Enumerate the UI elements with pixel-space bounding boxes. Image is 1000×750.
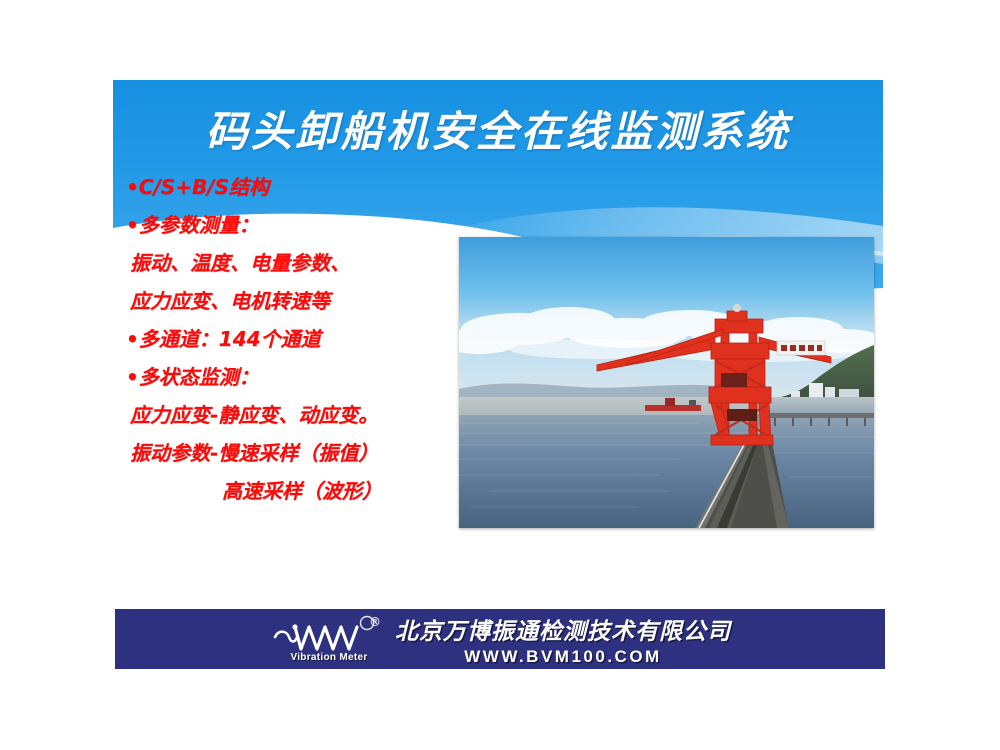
list-item: 振动、温度、电量参数、 [126, 244, 476, 282]
footer-bar: ® Vibration Meter 北京万博振通检测技术有限公司 WWW.BVM… [115, 609, 885, 669]
list-item: •多通道：144个通道 [126, 320, 476, 358]
registered-trademark-icon: ® [369, 615, 381, 629]
list-item-label: 振动参数-慢速采样（振值） [130, 441, 378, 465]
ship-unloader-photo [459, 237, 874, 528]
list-item: •多参数测量： [126, 206, 476, 244]
list-item: •多状态监测： [126, 358, 476, 396]
bullet-marker: • [126, 175, 139, 199]
photo-illustration [459, 237, 874, 528]
list-item-label: 多状态监测： [139, 365, 259, 389]
list-item: 振动参数-慢速采样（振值） [126, 434, 476, 472]
bullet-marker: • [126, 327, 139, 351]
bullet-marker: • [126, 365, 139, 389]
logo-label: Vibration Meter [277, 652, 381, 663]
page-title: 码头卸船机安全在线监测系统 [113, 98, 883, 159]
company-name: 北京万博振通检测技术有限公司 [395, 612, 731, 646]
list-item-label: 应力应变-静应变、动应变。 [130, 403, 378, 427]
vibration-meter-logo: ® Vibration Meter [269, 615, 389, 663]
company-identity: 北京万博振通检测技术有限公司 WWW.BVM100.COM [395, 612, 731, 667]
list-item-label: 多参数测量： [139, 213, 259, 237]
company-website[interactable]: WWW.BVM100.COM [464, 647, 661, 667]
list-item-label: 振动、温度、电量参数、 [130, 251, 350, 275]
list-item-label: 应力应变、电机转速等 [130, 289, 330, 313]
list-item-label: C/S+B/S结构 [139, 175, 269, 199]
list-item: 应力应变、电机转速等 [126, 282, 476, 320]
slide-canvas: 码头卸船机安全在线监测系统 •C/S+B/S结构 •多参数测量： 振动、温度、电… [0, 0, 1000, 750]
list-item-label: 多通道：144个通道 [139, 327, 321, 351]
bullet-marker: • [126, 213, 139, 237]
list-item: 高速采样（波形） [126, 472, 476, 510]
list-item-label: 高速采样（波形） [222, 479, 382, 503]
list-item: •C/S+B/S结构 [126, 168, 476, 206]
list-item: 应力应变-静应变、动应变。 [126, 396, 476, 434]
bullet-list: •C/S+B/S结构 •多参数测量： 振动、温度、电量参数、 应力应变、电机转速… [126, 168, 476, 510]
